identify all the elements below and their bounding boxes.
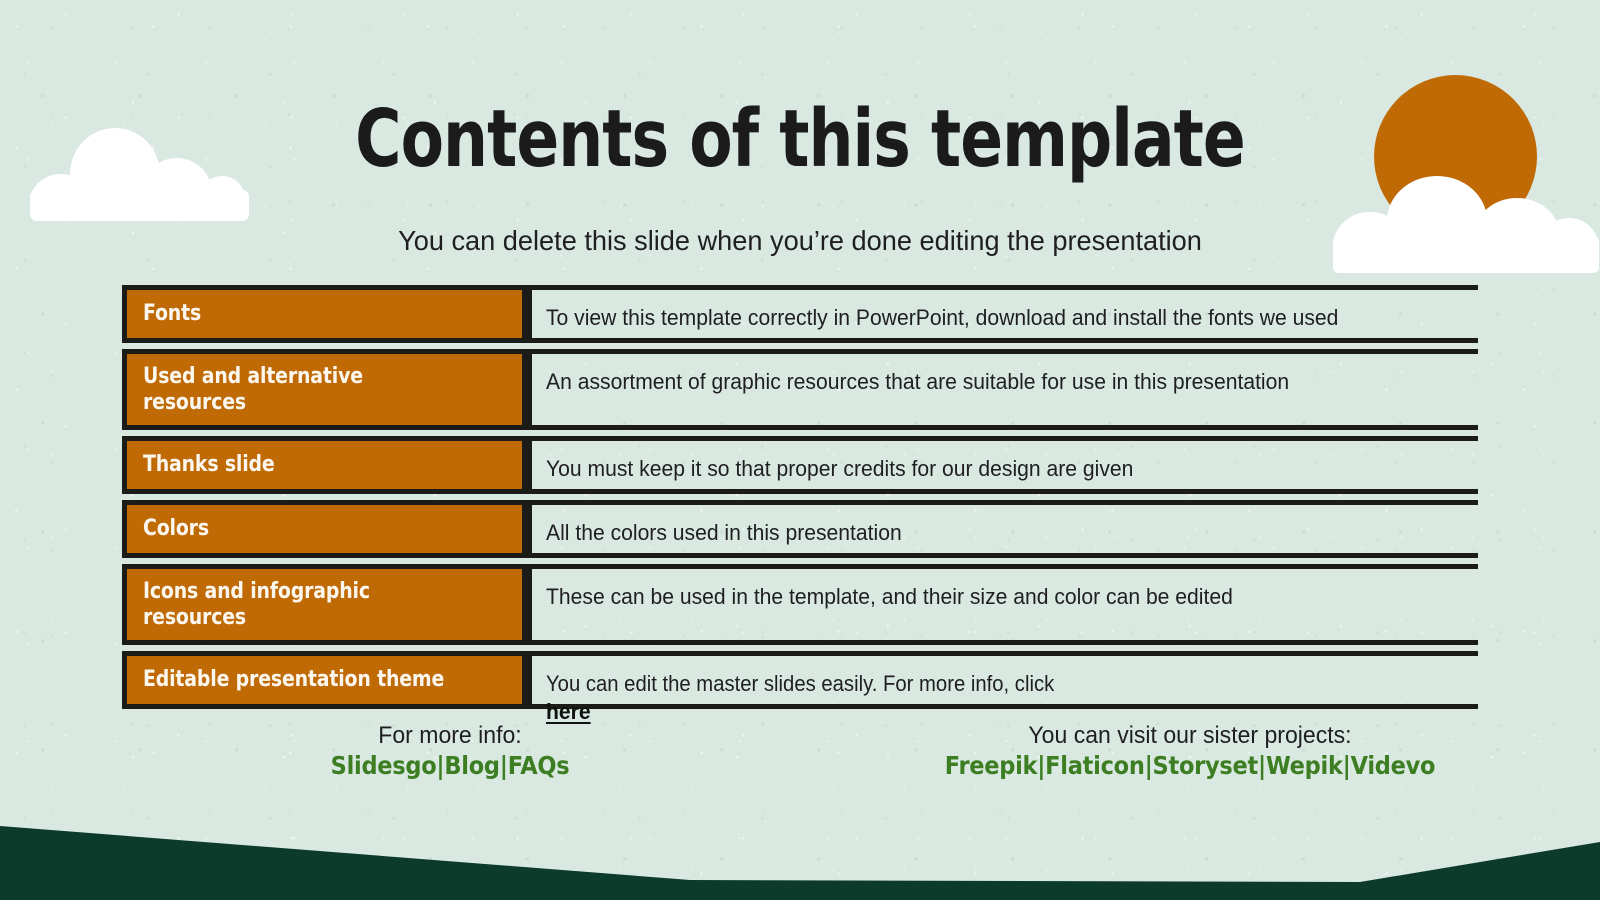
row-description-text: These can be used in the template, and t… [546, 583, 1233, 611]
row-label-text: Editable presentation theme [143, 667, 469, 693]
table-cell-label: Thanks slide [122, 436, 527, 494]
table-cell-label: Editable presentation theme [122, 651, 527, 709]
row-description-text: To view this template correctly in Power… [546, 304, 1338, 332]
row-description-text: An assortment of graphic resources that … [546, 368, 1289, 396]
footer-link-wepik[interactable]: Wepik [1266, 751, 1343, 780]
mountain-shape [0, 826, 1600, 900]
row-label-text: Icons and infographic resources [143, 579, 469, 630]
table-cell-description: An assortment of graphic resources that … [527, 349, 1478, 430]
footer-link-faqs[interactable]: FAQs [508, 751, 570, 780]
table-cell-label: Fonts [122, 285, 527, 343]
cloud-base [30, 190, 249, 221]
link-separator: | [1037, 751, 1045, 780]
footer-left-column: For more info: Slidesgo|Blog|FAQs [70, 722, 830, 780]
table-cell-description: All the colors used in this presentation [527, 500, 1478, 558]
page-subtitle: You can delete this slide when you’re do… [24, 224, 1576, 258]
table-row: Colors All the colors used in this prese… [122, 500, 1478, 558]
table-cell-description: To view this template correctly in Power… [527, 285, 1478, 343]
row-description-text: You can edit the master slides easily. F… [546, 670, 1075, 725]
footer-right-links: Freepik|Flaticon|Storyset|Wepik|Videvo [875, 752, 1505, 781]
row-label-text: Fonts [143, 301, 469, 327]
link-separator: | [436, 751, 444, 780]
footer-left-label: For more info: [85, 722, 815, 750]
footer-link-freepik[interactable]: Freepik [945, 751, 1037, 780]
row-description-prefix: You can edit the master slides easily. F… [546, 670, 1054, 698]
here-link[interactable]: here [546, 699, 591, 724]
table-cell-label: Colors [122, 500, 527, 558]
footer-right-column: You can visit our sister projects: Freep… [840, 722, 1540, 780]
table-cell-label: Icons and infographic resources [122, 564, 527, 645]
row-label-text: Thanks slide [143, 452, 469, 478]
link-separator: | [500, 751, 508, 780]
mountain-silhouette [0, 790, 1600, 900]
row-description-text: You must keep it so that proper credits … [546, 455, 1133, 483]
table-row: Used and alternative resources An assort… [122, 349, 1478, 430]
footer-right-label: You can visit our sister projects: [854, 722, 1526, 750]
table-row: Icons and infographic resources These ca… [122, 564, 1478, 645]
table-cell-description: These can be used in the template, and t… [527, 564, 1478, 645]
row-description-text: All the colors used in this presentation [546, 519, 902, 547]
contents-table: Fonts To view this template correctly in… [122, 285, 1478, 709]
footer-link-flaticon[interactable]: Flaticon [1045, 751, 1144, 780]
row-label-text: Used and alternative resources [143, 364, 469, 415]
slide-canvas: Contents of this template You can delete… [0, 0, 1600, 900]
table-row: Thanks slide You must keep it so that pr… [122, 436, 1478, 494]
table-cell-description: You must keep it so that proper credits … [527, 436, 1478, 494]
footer-link-videvo[interactable]: Videvo [1351, 751, 1436, 780]
footer-link-slidesgo[interactable]: Slidesgo [331, 751, 437, 780]
footer-link-storyset[interactable]: Storyset [1153, 751, 1258, 780]
footer: For more info: Slidesgo|Blog|FAQs You ca… [0, 722, 1600, 780]
footer-left-links: Slidesgo|Blog|FAQs [108, 752, 792, 781]
row-label-text: Colors [143, 516, 469, 542]
footer-link-blog[interactable]: Blog [444, 751, 499, 780]
table-row: Editable presentation theme You can edit… [122, 651, 1478, 709]
table-cell-description: You can edit the master slides easily. F… [527, 651, 1478, 709]
table-cell-label: Used and alternative resources [122, 349, 527, 430]
table-row: Fonts To view this template correctly in… [122, 285, 1478, 343]
page-title: Contents of this template [160, 100, 1440, 179]
